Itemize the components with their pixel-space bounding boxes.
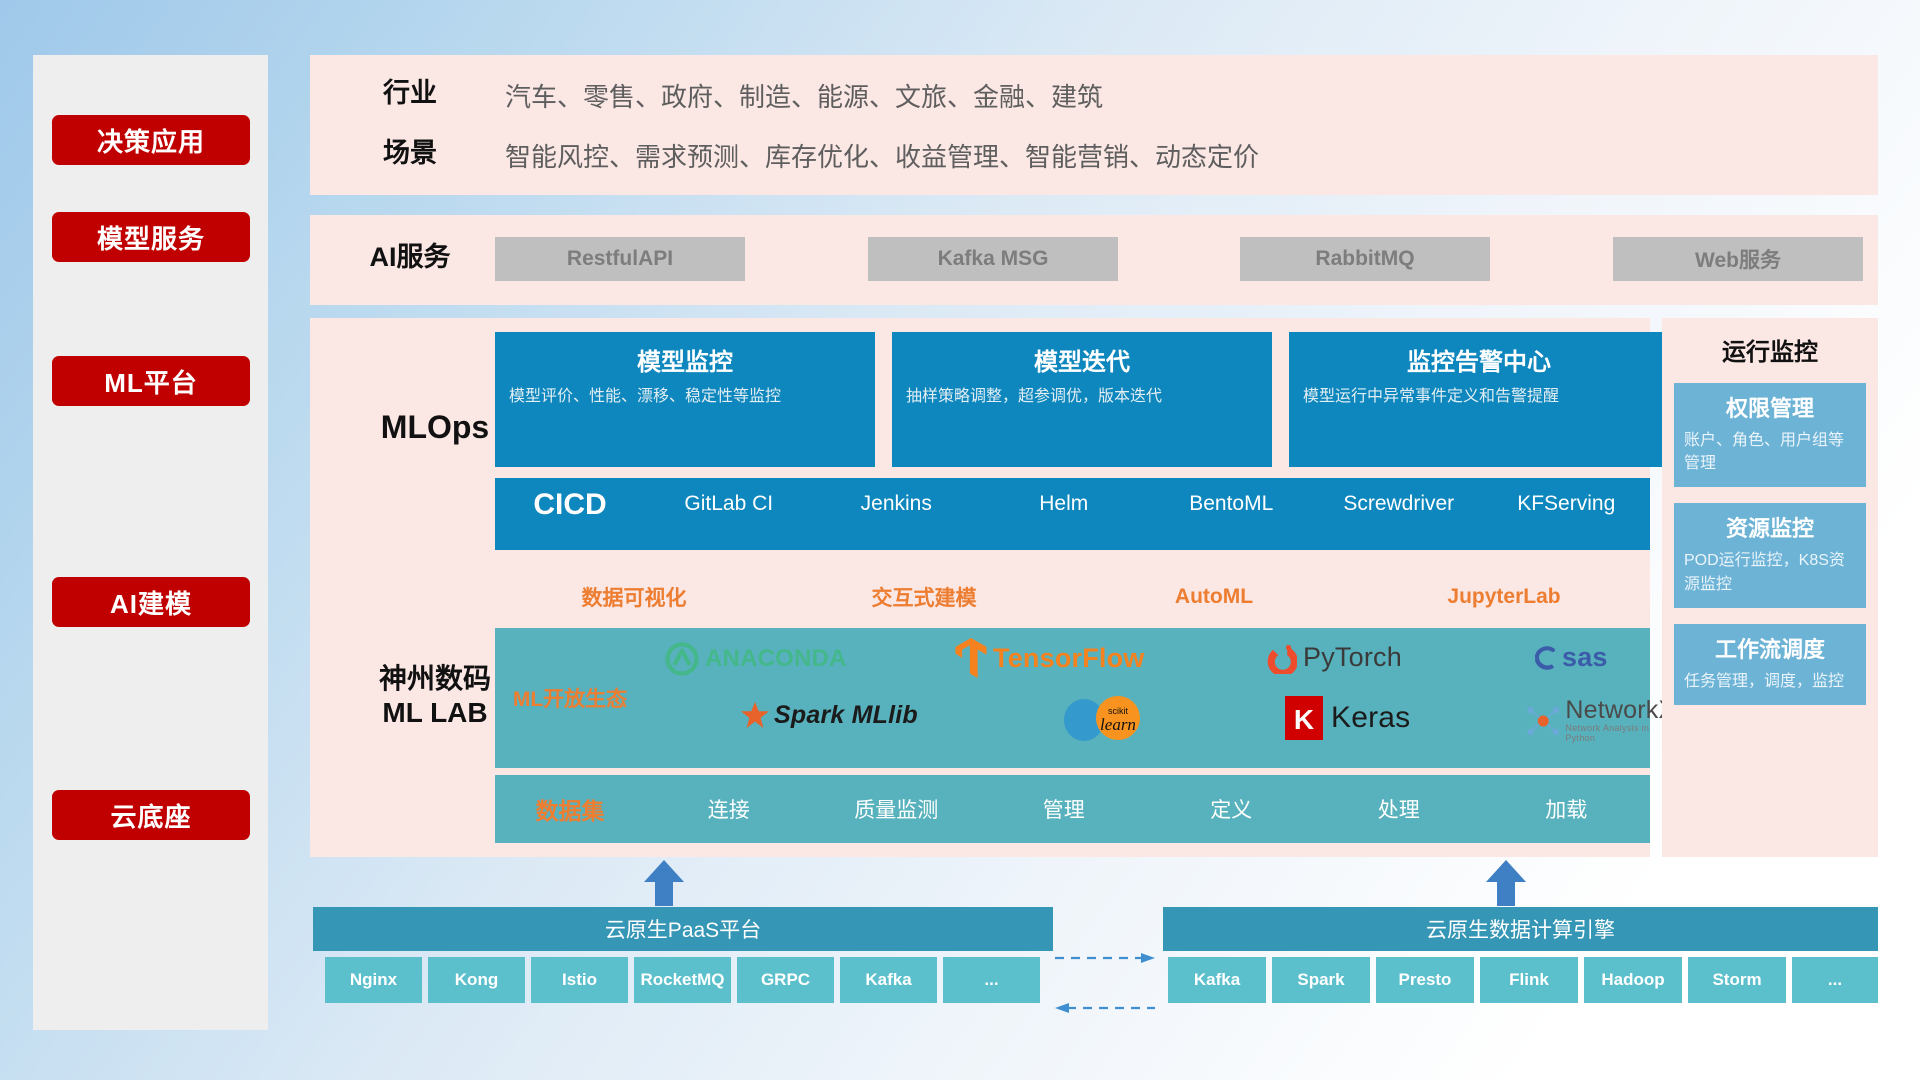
- monitoring-card-permission[interactable]: 权限管理 账户、角色、用户组等管理: [1674, 383, 1866, 487]
- arrow-up-engine: [1482, 858, 1530, 911]
- rail-item-ai-modeling[interactable]: AI建模: [52, 577, 250, 627]
- keras-logo: K Keras: [1285, 696, 1410, 740]
- cicd-bar: CICD GitLab CI Jenkins Helm BentoML Scre…: [495, 478, 1650, 550]
- ml-lab-label-line1: 神州数码: [379, 663, 491, 694]
- scikit-learn-logo: scikit learn: [1060, 696, 1156, 742]
- dataset-band: 数据集 连接 质量监测 管理 定义 处理 加载: [495, 775, 1650, 843]
- engine-chip-spark[interactable]: Spark: [1272, 957, 1370, 1003]
- networkx-logo-text: NetworkX: [1565, 698, 1677, 723]
- dataset-item-quality[interactable]: 质量监测: [813, 794, 981, 824]
- cicd-item-kfserving[interactable]: KFServing: [1483, 478, 1651, 515]
- pytorch-logo: PyTorch: [1265, 640, 1402, 674]
- ai-service-band: AI服务 RestfulAPI Kafka MSG RabbitMQ Web服务: [310, 215, 1878, 305]
- engine-chip-flink[interactable]: Flink: [1480, 957, 1578, 1003]
- sas-logo-text: sas: [1562, 642, 1608, 673]
- cicd-title: CICD: [495, 478, 645, 522]
- application-layer-band: 行业 汽车、零售、政府、制造、能源、文旅、金融、建筑 场景 智能风控、需求预测、…: [310, 55, 1878, 195]
- scenario-label: 场景: [355, 137, 465, 169]
- paas-chip-istio[interactable]: Istio: [531, 957, 628, 1003]
- card-title: 资源监控: [1684, 511, 1856, 543]
- engine-chip-presto[interactable]: Presto: [1376, 957, 1474, 1003]
- layer-rail: 决策应用 模型服务 ML平台 AI建模 云底座: [33, 55, 268, 1030]
- arrow-dashed-right: [1055, 950, 1155, 971]
- networkx-logo-subtext: Network Analysis in Python: [1565, 723, 1677, 743]
- card-desc: 抽样策略调整，超参调优，版本迭代: [906, 385, 1162, 408]
- pytorch-logo-text: PyTorch: [1303, 642, 1402, 673]
- anaconda-logo-text: ANACONDA: [705, 645, 847, 673]
- dataset-item-load[interactable]: 加载: [1483, 794, 1651, 824]
- rail-item-ml-platform[interactable]: ML平台: [52, 356, 250, 406]
- cicd-item-bentoml[interactable]: BentoML: [1148, 478, 1316, 515]
- industry-label: 行业: [355, 77, 465, 109]
- monitoring-card-workflow[interactable]: 工作流调度 任务管理，调度，监控: [1674, 624, 1866, 705]
- keras-logo-text: Keras: [1331, 701, 1410, 735]
- dataset-item-manage[interactable]: 管理: [980, 794, 1148, 824]
- tool-chip-automl[interactable]: AutoML: [1075, 571, 1353, 623]
- ml-ecosystem-label: ML开放生态: [495, 628, 645, 768]
- svg-text:K: K: [1294, 704, 1314, 735]
- cicd-item-gitlab-ci[interactable]: GitLab CI: [645, 478, 813, 515]
- card-title: 工作流调度: [1684, 632, 1856, 664]
- runtime-monitoring-title: 运行监控: [1662, 318, 1878, 367]
- engine-chip-hadoop[interactable]: Hadoop: [1584, 957, 1682, 1003]
- monitoring-card-resource[interactable]: 资源监控 POD运行监控，K8S资源监控: [1674, 503, 1866, 607]
- tool-chip-data-visualization[interactable]: 数据可视化: [495, 571, 773, 623]
- sas-logo: sas: [1530, 642, 1608, 673]
- tool-chip-jupyterlab[interactable]: JupyterLab: [1365, 571, 1643, 623]
- mlops-card-alert-center[interactable]: 监控告警中心 模型运行中异常事件定义和告警提醒: [1289, 332, 1669, 467]
- industry-value: 汽车、零售、政府、制造、能源、文旅、金融、建筑: [505, 77, 1103, 114]
- paas-chip-kafka[interactable]: Kafka: [840, 957, 937, 1003]
- card-title: 监控告警中心: [1407, 342, 1551, 377]
- paas-chip-rocketmq[interactable]: RocketMQ: [634, 957, 731, 1003]
- arrow-up-paas: [640, 858, 688, 911]
- dataset-item-process[interactable]: 处理: [1315, 794, 1483, 824]
- paas-chip-more[interactable]: ...: [943, 957, 1040, 1003]
- cicd-item-jenkins[interactable]: Jenkins: [813, 478, 981, 515]
- card-title: 模型监控: [637, 342, 733, 377]
- dataset-title: 数据集: [495, 792, 645, 826]
- service-chip-kafka-msg[interactable]: Kafka MSG: [868, 237, 1118, 281]
- cicd-item-helm[interactable]: Helm: [980, 478, 1148, 515]
- card-desc: POD运行监控，K8S资源监控: [1684, 549, 1856, 595]
- spark-mllib-logo-text: Spark MLlib: [774, 701, 918, 730]
- tool-chip-interactive-modeling[interactable]: 交互式建模: [785, 571, 1063, 623]
- service-chip-rabbitmq[interactable]: RabbitMQ: [1240, 237, 1490, 281]
- architecture-diagram: 决策应用 模型服务 ML平台 AI建模 云底座 行业 汽车、零售、政府、制造、能…: [0, 0, 1920, 1080]
- paas-bar: 云原生PaaS平台: [313, 907, 1053, 951]
- mlops-card-model-iteration[interactable]: 模型迭代 抽样策略调整，超参调优，版本迭代: [892, 332, 1272, 467]
- ml-ecosystem-band: ML开放生态 ANACONDA TensorFlow: [495, 628, 1650, 768]
- dataset-item-connect[interactable]: 连接: [645, 794, 813, 824]
- engine-chip-more[interactable]: ...: [1792, 957, 1878, 1003]
- service-chip-restfulapi[interactable]: RestfulAPI: [495, 237, 745, 281]
- ml-ecosystem-logos: ANACONDA TensorFlow PyTorch: [645, 628, 1650, 768]
- card-desc: 模型评价、性能、漂移、稳定性等监控: [509, 385, 781, 408]
- paas-chip-kong[interactable]: Kong: [428, 957, 525, 1003]
- scenario-value: 智能风控、需求预测、库存优化、收益管理、智能营销、动态定价: [505, 137, 1259, 174]
- card-desc: 任务管理，调度，监控: [1684, 670, 1856, 693]
- engine-chip-kafka[interactable]: Kafka: [1168, 957, 1266, 1003]
- tensorflow-logo: TensorFlow: [955, 638, 1145, 678]
- spark-mllib-logo: Spark MLlib: [740, 700, 918, 730]
- service-chip-web-service[interactable]: Web服务: [1613, 237, 1863, 281]
- svg-text:learn: learn: [1100, 715, 1136, 734]
- data-engine-bar: 云原生数据计算引擎: [1163, 907, 1878, 951]
- runtime-monitoring-column: 运行监控 权限管理 账户、角色、用户组等管理 资源监控 POD运行监控，K8S资…: [1662, 318, 1878, 857]
- anaconda-logo: ANACONDA: [665, 642, 847, 676]
- paas-chip-nginx[interactable]: Nginx: [325, 957, 422, 1003]
- rail-item-model-service[interactable]: 模型服务: [52, 212, 250, 262]
- networkx-logo: NetworkX Network Analysis in Python: [1525, 698, 1677, 743]
- engine-chip-storm[interactable]: Storm: [1688, 957, 1786, 1003]
- card-title: 模型迭代: [1034, 342, 1130, 377]
- card-title: 权限管理: [1684, 391, 1856, 423]
- rail-item-decision-app[interactable]: 决策应用: [52, 115, 250, 165]
- arrow-dashed-left: [1055, 1000, 1155, 1021]
- cicd-item-screwdriver[interactable]: Screwdriver: [1315, 478, 1483, 515]
- card-desc: 账户、角色、用户组等管理: [1684, 429, 1856, 475]
- card-desc: 模型运行中异常事件定义和告警提醒: [1303, 385, 1559, 408]
- ml-lab-label-line2: ML LAB: [382, 697, 487, 728]
- ai-service-label: AI服务: [345, 241, 475, 273]
- mlops-card-model-monitoring[interactable]: 模型监控 模型评价、性能、漂移、稳定性等监控: [495, 332, 875, 467]
- rail-item-cloud-base[interactable]: 云底座: [52, 790, 250, 840]
- paas-chip-grpc[interactable]: GRPC: [737, 957, 834, 1003]
- tensorflow-logo-text: TensorFlow: [993, 643, 1145, 674]
- dataset-item-define[interactable]: 定义: [1148, 794, 1316, 824]
